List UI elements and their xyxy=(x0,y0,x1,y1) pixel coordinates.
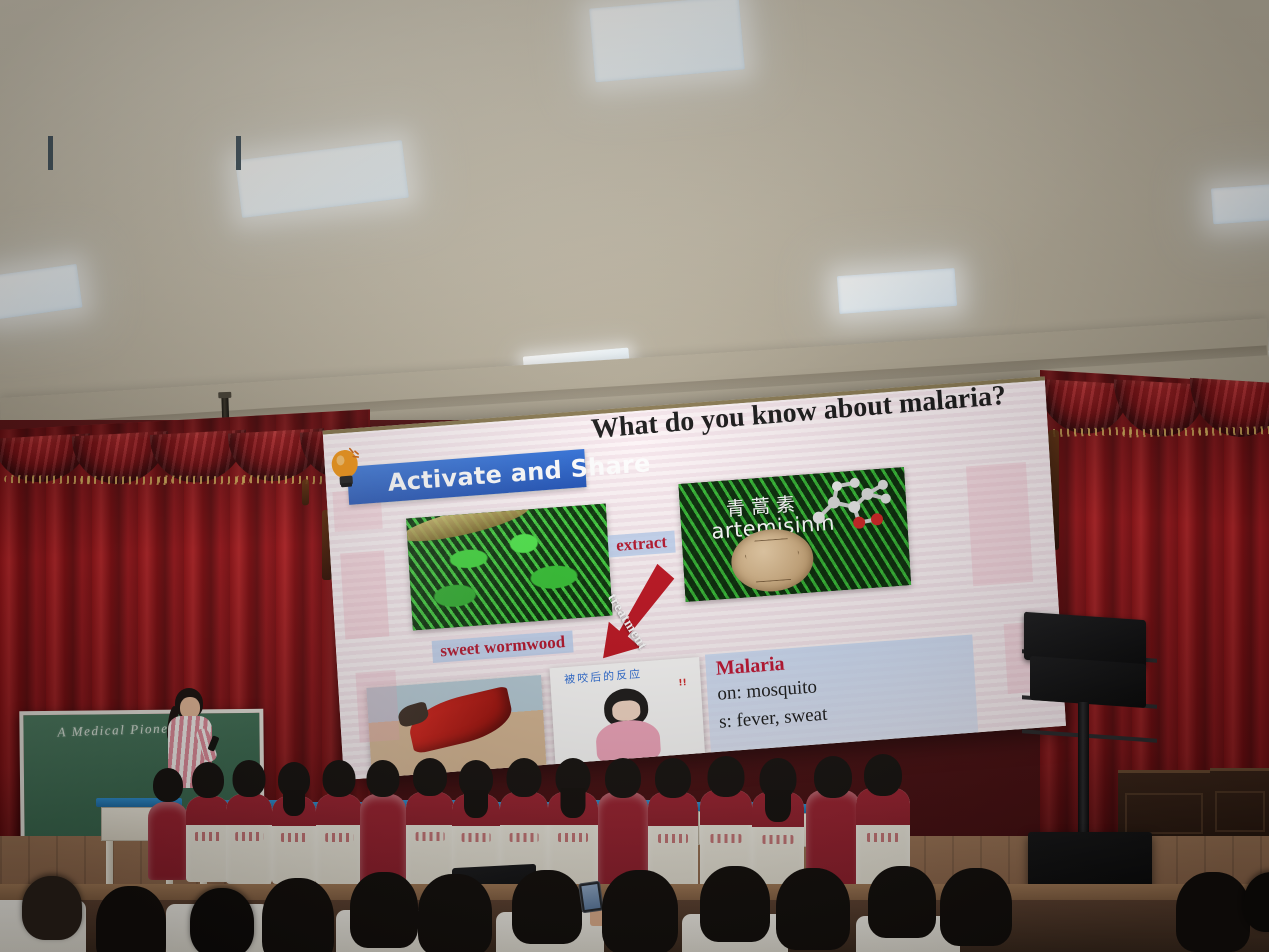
lightbulb-icon xyxy=(328,446,365,494)
slide-decor-block xyxy=(966,462,1033,586)
audience-head xyxy=(700,866,770,942)
label-extract: extract xyxy=(608,531,676,558)
audience-head xyxy=(1244,872,1269,932)
student-ponytail xyxy=(765,790,791,822)
foreground-audience xyxy=(0,858,1269,952)
blackboard-leg xyxy=(48,136,53,170)
audience-head xyxy=(350,872,418,948)
slide-content: Activate and Share What do you know abou… xyxy=(323,380,1066,780)
audience-head xyxy=(418,874,492,952)
audience-head xyxy=(868,866,936,938)
student-head xyxy=(367,760,400,797)
student-head xyxy=(814,756,852,798)
malaria-line-1: on: mosquito xyxy=(717,676,818,705)
smartphone-icon xyxy=(578,881,604,914)
malaria-title: Malaria xyxy=(715,653,785,681)
ceiling-light xyxy=(235,140,409,218)
student-head xyxy=(153,768,183,802)
student-ponytail xyxy=(561,788,586,818)
audience-head xyxy=(190,888,254,952)
student-head xyxy=(323,760,356,797)
audience-head xyxy=(776,868,850,950)
audience-head xyxy=(22,876,82,940)
audience-head xyxy=(512,870,582,944)
student-head xyxy=(192,762,224,798)
student-ponytail xyxy=(283,790,305,816)
photo-rim xyxy=(406,504,531,549)
audience-head xyxy=(262,878,334,952)
auditorium-photo: Activate and Share What do you know abou… xyxy=(0,0,1269,952)
slide-banner-label: Activate and Share xyxy=(387,449,651,497)
cabinet-panel xyxy=(1215,791,1265,832)
blackboard-leg xyxy=(236,136,241,170)
ceiling-light xyxy=(0,264,83,320)
sweet-wormwood-photo xyxy=(406,504,612,631)
audience-head xyxy=(602,870,678,952)
student-head xyxy=(233,760,266,797)
ceiling-light xyxy=(837,268,957,314)
cartoon-caption-cn: 被咬后的反应 xyxy=(564,665,643,687)
projection-screen: Activate and Share What do you know abou… xyxy=(323,376,1066,780)
student-head xyxy=(864,754,902,796)
student-head xyxy=(605,758,641,798)
audience-head xyxy=(940,868,1012,946)
ceiling-light xyxy=(589,0,745,82)
student-head xyxy=(507,758,542,797)
cartoon-marker: !! xyxy=(678,678,687,689)
ceiling-light xyxy=(1211,184,1269,225)
student-head xyxy=(655,758,691,798)
student-head xyxy=(413,758,447,796)
ceiling-light xyxy=(523,347,632,390)
artemisinin-photo: 青蒿素 artemisinin xyxy=(679,467,912,602)
malaria-line-2: s: fever, sweat xyxy=(718,704,827,734)
speaker-cabinet-mid xyxy=(1030,656,1146,708)
slide-banner: Activate and Share xyxy=(347,449,587,505)
student-head xyxy=(708,756,745,797)
student-ponytail xyxy=(464,790,488,818)
ceiling-light xyxy=(1213,350,1269,375)
speaker-pole xyxy=(1078,702,1089,842)
curtain-valance-right xyxy=(1038,379,1269,469)
malaria-info-box: Malaria on: mosquito s: fever, sweat xyxy=(705,634,978,752)
audience-head xyxy=(96,886,166,952)
molecule-model-icon xyxy=(802,472,902,545)
sick-cartoon: 被咬后的反应 !! xyxy=(550,657,706,766)
label-sweet-wormwood: sweet wormwood xyxy=(432,630,574,663)
audience-head xyxy=(1176,872,1250,952)
